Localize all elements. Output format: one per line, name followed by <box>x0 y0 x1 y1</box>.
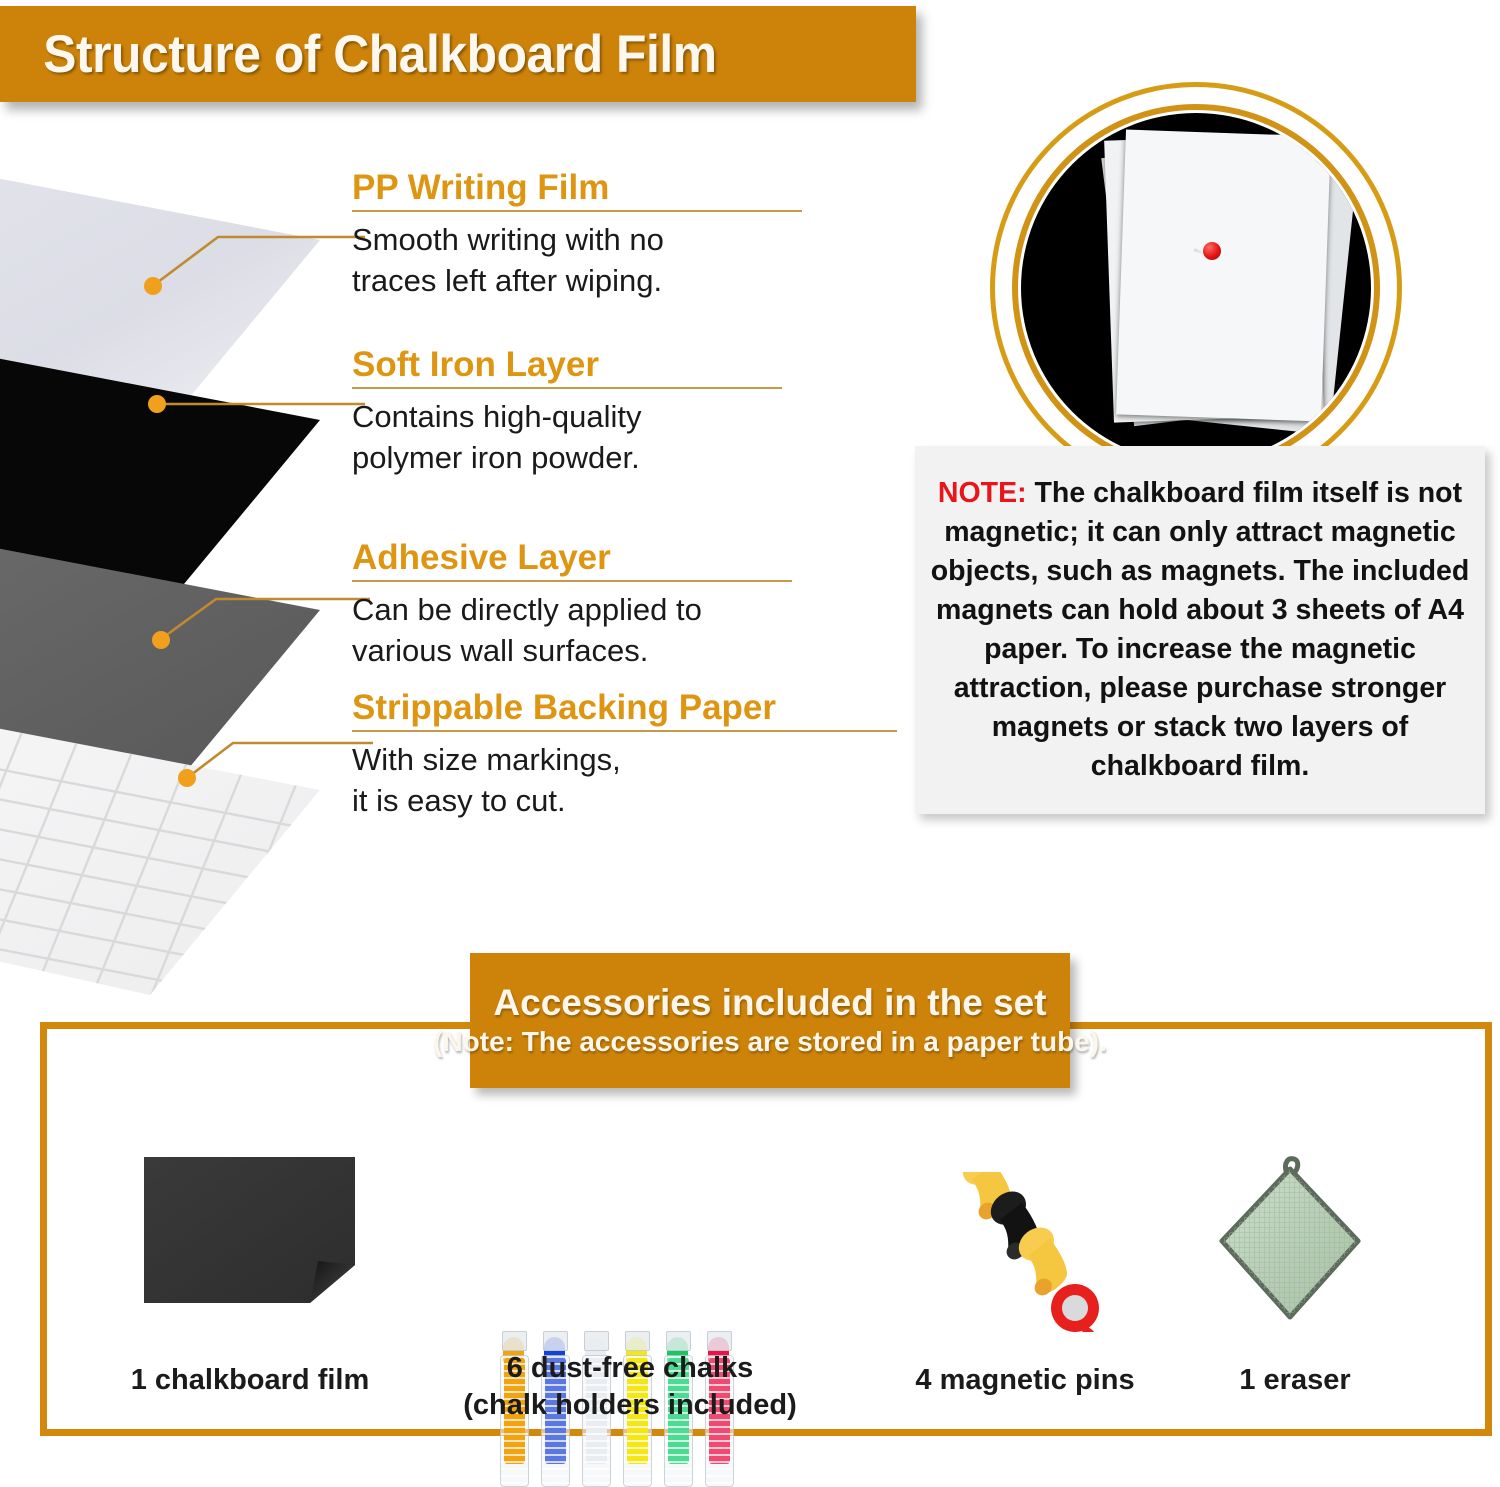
callout-body: Contains high-quality polymer iron powde… <box>352 389 782 478</box>
magnetic-pin-red <box>1051 1284 1099 1332</box>
accessory-caption: 4 magnetic pins <box>860 1362 1190 1399</box>
magnetic-pins-group <box>935 1172 1115 1332</box>
infographic-canvas: Structure of Chalkboard Film <box>0 0 1500 1457</box>
magnetic-pin-icon <box>1199 242 1221 264</box>
magnified-photo-circle <box>990 82 1402 494</box>
note-text: NOTE: The chalkboard film itself is not … <box>927 474 1473 786</box>
eraser-cloth <box>1212 1155 1367 1330</box>
accessory-label-magnetic-pins: 4 magnetic pins <box>860 1362 1190 1399</box>
dust-free-chalks-group <box>500 1172 750 1337</box>
callout-soft-iron-layer: Soft Iron Layer Contains high-quality po… <box>352 345 782 478</box>
holder-base <box>666 1331 691 1351</box>
accessories-banner: Accessories included in the set (Note: T… <box>470 953 1070 1088</box>
callout-body: Can be directly applied to various wall … <box>352 582 792 671</box>
holder-base <box>707 1331 732 1351</box>
callout-body: With size markings, it is easy to cut. <box>352 732 897 821</box>
accessories-banner-title: Accessories included in the set <box>493 982 1046 1024</box>
accessory-label-eraser: 1 eraser <box>1180 1362 1410 1399</box>
chalkboard-film-sample <box>142 1155 357 1305</box>
title-banner: Structure of Chalkboard Film <box>0 6 916 102</box>
accessory-label-dust-free-chalks: 6 dust-free chalks (chalk holders includ… <box>440 1350 820 1424</box>
accessories-banner-subtitle: (Note: The accessories are stored in a p… <box>433 1024 1107 1060</box>
pin-head <box>1203 242 1221 260</box>
accessory-caption: 1 chalkboard film <box>60 1362 440 1399</box>
holder-base <box>543 1331 568 1351</box>
callout-adhesive-layer: Adhesive Layer Can be directly applied t… <box>352 538 792 671</box>
layer-sheet-strippable-backing-paper <box>0 700 410 1030</box>
callout-heading: Adhesive Layer <box>352 538 792 580</box>
note-box: NOTE: The chalkboard film itself is not … <box>915 446 1485 814</box>
holder-base <box>502 1331 527 1351</box>
photo-disc <box>1021 113 1371 463</box>
holder-base <box>625 1331 650 1351</box>
a4-sheet <box>1116 130 1331 422</box>
holder-base <box>584 1331 609 1351</box>
callout-heading: PP Writing Film <box>352 168 802 210</box>
callout-heading: Soft Iron Layer <box>352 345 782 387</box>
accessory-caption: 6 dust-free chalks (chalk holders includ… <box>440 1350 820 1424</box>
note-body: The chalkboard film itself is not magnet… <box>931 477 1469 782</box>
accessory-label-chalkboard-film: 1 chalkboard film <box>60 1362 440 1399</box>
callout-pp-writing-film: PP Writing Film Smooth writing with no t… <box>352 168 802 301</box>
page-title: Structure of Chalkboard Film <box>0 24 717 85</box>
note-label: NOTE: <box>938 477 1027 509</box>
callout-strippable-backing-paper: Strippable Backing Paper With size marki… <box>352 688 897 821</box>
callout-heading: Strippable Backing Paper <box>352 688 897 730</box>
callout-body: Smooth writing with no traces left after… <box>352 212 802 301</box>
accessory-caption: 1 eraser <box>1180 1362 1410 1399</box>
